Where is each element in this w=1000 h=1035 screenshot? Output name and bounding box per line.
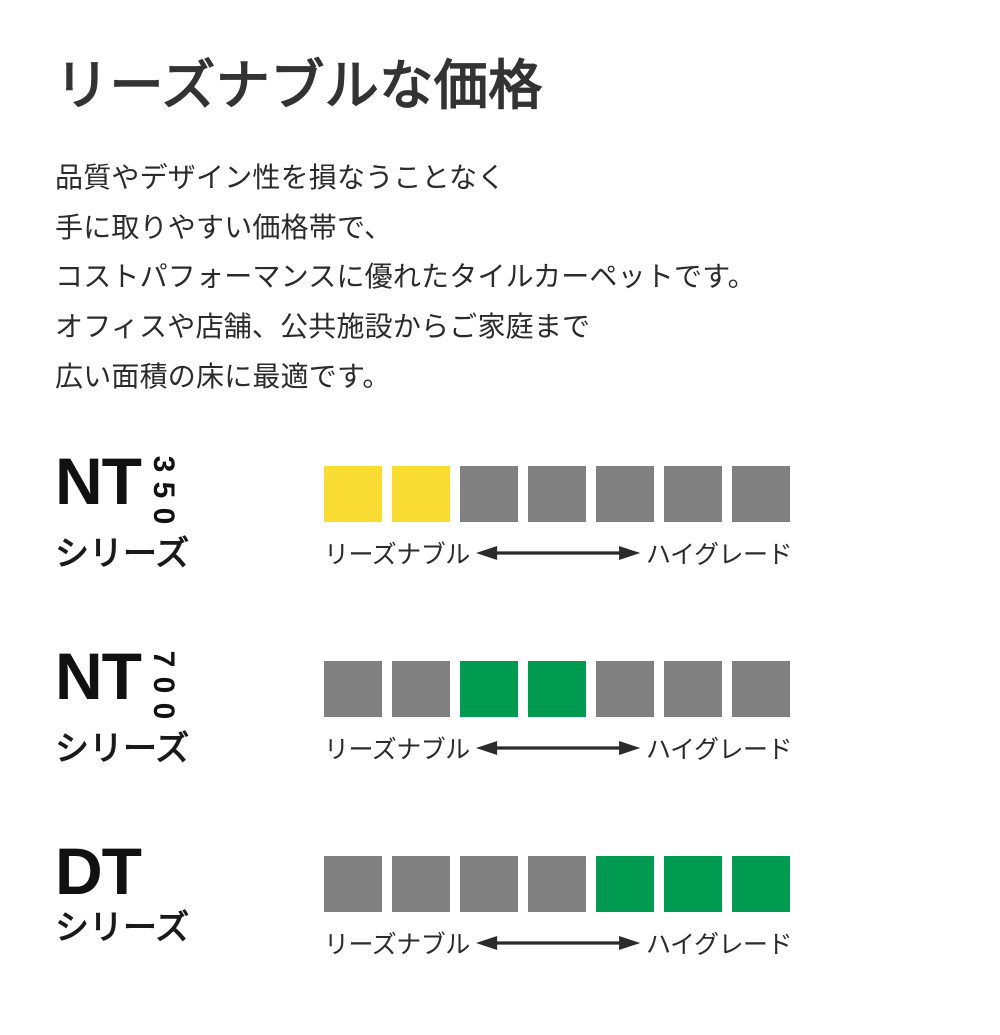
double-arrow-horizontal-icon xyxy=(476,543,640,563)
series-code: NT xyxy=(55,450,141,513)
description-paragraph: 品質やデザイン性を損なうことなく 手に取りやすい価格帯で、 コストパフォーマンス… xyxy=(55,153,955,402)
swatch xyxy=(324,856,382,912)
swatch xyxy=(324,466,382,522)
legend-high-label: ハイグレード xyxy=(646,925,792,961)
price-scale-nt350: リーズナブル ハイグレード xyxy=(324,466,792,571)
swatch xyxy=(460,466,518,522)
swatch xyxy=(528,466,586,522)
legend-low-label: リーズナブル xyxy=(324,925,470,961)
swatch xyxy=(596,856,654,912)
series-suffix: シリーズ xyxy=(55,537,295,571)
series-row: DT シリーズ リーズナブル xyxy=(0,840,1000,1035)
swatch xyxy=(528,856,586,912)
series-code-group: NT 3 5 0 xyxy=(55,450,295,529)
legend-high-label: ハイグレード xyxy=(646,730,792,766)
description-line: 広い面積の床に最適です。 xyxy=(55,352,955,402)
scale-legend: リーズナブル ハイグレード xyxy=(324,730,792,766)
price-scale-nt700: リーズナブル ハイグレード xyxy=(324,661,792,766)
swatch xyxy=(392,856,450,912)
series-code: NT xyxy=(55,645,141,708)
series-row: NT 7 0 0 シリーズ xyxy=(0,645,1000,840)
scale-legend: リーズナブル ハイグレード xyxy=(324,535,792,571)
series-label-dt: DT シリーズ xyxy=(55,840,295,945)
legend-low-label: リーズナブル xyxy=(324,535,470,571)
swatch xyxy=(596,466,654,522)
series-code: DT xyxy=(55,840,141,903)
description-line: オフィスや店舗、公共施設からご家庭まで xyxy=(55,302,955,352)
description-line: 手に取りやすい価格帯で、 xyxy=(55,203,955,253)
swatch xyxy=(664,466,722,522)
swatch xyxy=(460,661,518,717)
swatch xyxy=(392,661,450,717)
intro-block: リーズナブルな価格 品質やデザイン性を損なうことなく 手に取りやすい価格帯で、 … xyxy=(55,58,955,402)
series-number-digit: 0 xyxy=(149,499,175,533)
series-code-group: DT xyxy=(55,840,295,903)
series-number: 3 5 0 xyxy=(145,451,179,529)
swatch xyxy=(664,661,722,717)
series-suffix: シリーズ xyxy=(55,911,295,945)
series-code-group: NT 7 0 0 xyxy=(55,645,295,724)
series-row: NT 3 5 0 シリーズ xyxy=(0,450,1000,645)
swatch xyxy=(324,661,382,717)
series-number-digit: 0 xyxy=(149,694,175,728)
legend-low-label: リーズナブル xyxy=(324,730,470,766)
swatch xyxy=(392,466,450,522)
swatch xyxy=(732,466,790,522)
scale-legend: リーズナブル ハイグレード xyxy=(324,925,792,961)
description-line: 品質やデザイン性を損なうことなく xyxy=(55,153,955,203)
series-list: NT 3 5 0 シリーズ xyxy=(0,450,1000,1035)
double-arrow-horizontal-icon xyxy=(476,933,640,953)
swatch-strip xyxy=(324,466,792,522)
swatch xyxy=(664,856,722,912)
swatch xyxy=(596,661,654,717)
price-scale-dt: リーズナブル ハイグレード xyxy=(324,856,792,961)
series-label-nt700: NT 7 0 0 シリーズ xyxy=(55,645,295,766)
swatch-strip xyxy=(324,661,792,717)
swatch xyxy=(528,661,586,717)
page-root: リーズナブルな価格 品質やデザイン性を損なうことなく 手に取りやすい価格帯で、 … xyxy=(0,0,1000,1000)
swatch-strip xyxy=(324,856,792,912)
series-suffix: シリーズ xyxy=(55,732,295,766)
swatch xyxy=(732,856,790,912)
legend-high-label: ハイグレード xyxy=(646,535,792,571)
swatch xyxy=(460,856,518,912)
double-arrow-horizontal-icon xyxy=(476,738,640,758)
swatch xyxy=(732,661,790,717)
series-label-nt350: NT 3 5 0 シリーズ xyxy=(55,450,295,571)
description-line: コストパフォーマンスに優れたタイルカーペットです。 xyxy=(55,252,955,302)
series-number: 7 0 0 xyxy=(145,646,179,724)
page-title: リーズナブルな価格 xyxy=(55,58,955,115)
